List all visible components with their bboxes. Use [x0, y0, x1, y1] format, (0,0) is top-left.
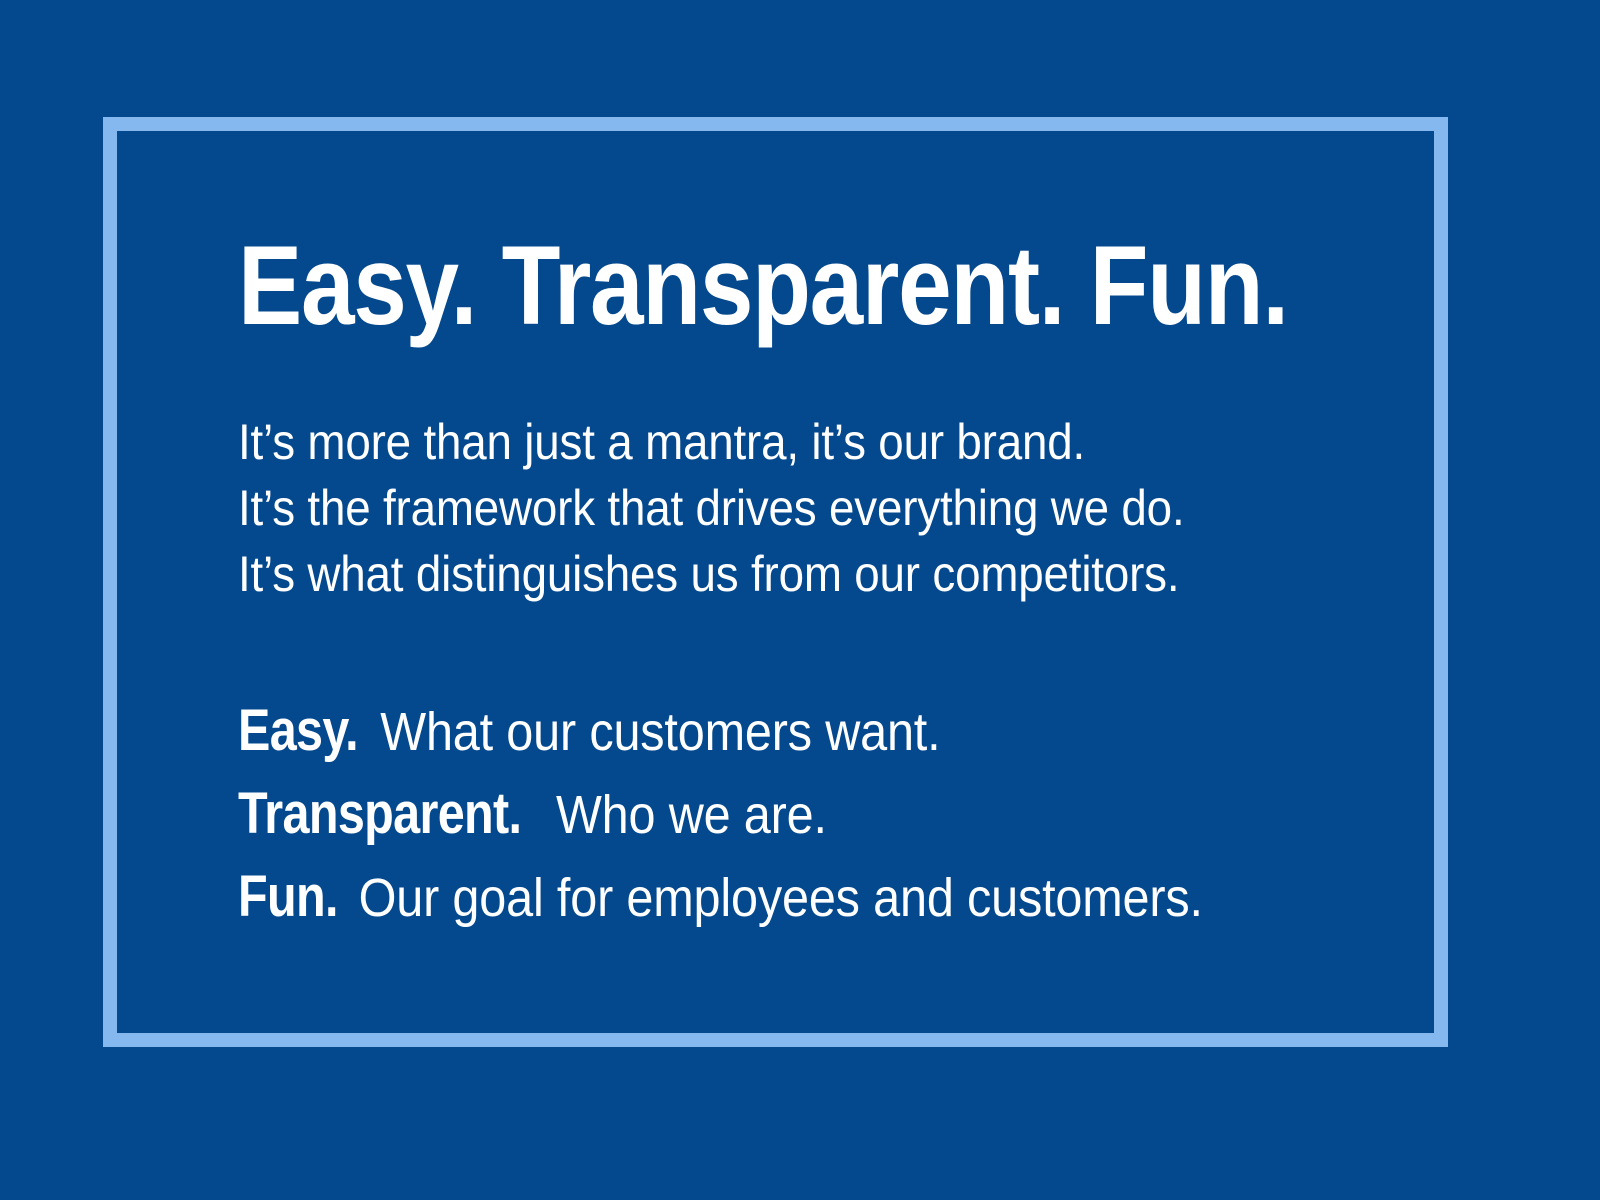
intro-line-2: It’s the framework that drives everythin…	[238, 475, 1354, 541]
pillar-lead-easy: Easy.	[238, 690, 367, 771]
pillar-lead-fun: Fun.	[238, 856, 347, 937]
pillars-list: Easy. What our customers want. Transpare…	[238, 690, 1478, 939]
slide-canvas: Easy. Transparent. Fun. It’s more than j…	[0, 0, 1600, 1200]
list-item: Easy. What our customers want.	[238, 690, 1354, 773]
pillar-desc-transparent: Who we are.	[556, 785, 827, 845]
pillar-lead-transparent: Transparent.	[238, 773, 530, 854]
intro-line-1: It’s more than just a mantra, it’s our b…	[238, 409, 1354, 475]
pillar-desc-fun: Our goal for employees and customers.	[359, 868, 1203, 928]
list-item: Transparent. Who we are.	[238, 773, 1354, 856]
list-item: Fun. Our goal for employees and customer…	[238, 856, 1354, 939]
intro-line-3: It’s what distinguishes us from our comp…	[238, 541, 1354, 607]
pillar-desc-easy: What our customers want.	[380, 702, 940, 762]
intro-paragraph: It’s more than just a mantra, it’s our b…	[238, 409, 1458, 607]
page-title: Easy. Transparent. Fun.	[238, 230, 1288, 342]
